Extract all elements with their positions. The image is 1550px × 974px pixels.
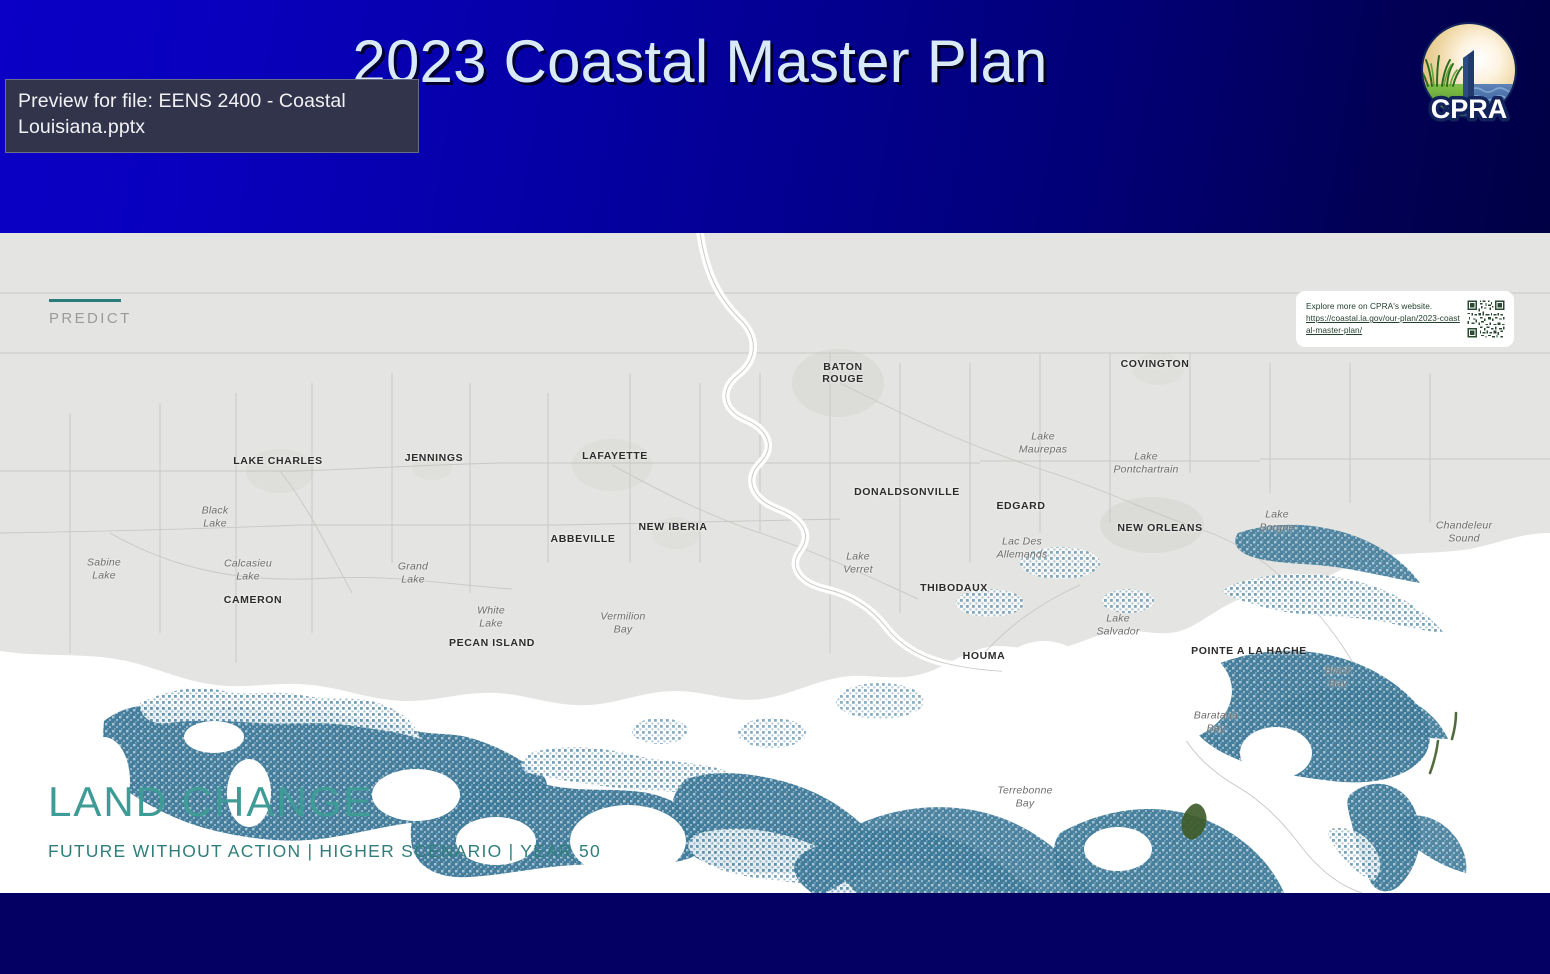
map-water-label: Sabine Lake: [87, 556, 121, 581]
map-water-label: Terrebonne Bay: [997, 784, 1052, 809]
slide-preview-window: 2023 Coastal Master Plan: [0, 0, 1550, 974]
map-water-label: Lake Pontchartrain: [1113, 450, 1178, 475]
explore-lead: Explore more on CPRA's website.: [1306, 301, 1432, 311]
caption-subtitle: FUTURE WITHOUT ACTION | HIGHER SCENARIO …: [48, 841, 601, 862]
map-city-label: LAFAYETTE: [582, 450, 648, 462]
map-water-label: Lake Borgne: [1259, 508, 1294, 533]
map-city-label: BATON ROUGE: [822, 361, 864, 385]
cpra-logo: CPRA CPRA: [1408, 12, 1530, 134]
map-city-label: NEW IBERIA: [639, 521, 708, 533]
map-city-label: PECAN ISLAND: [449, 637, 535, 649]
map-city-label: HOUMA: [963, 650, 1006, 662]
map-water-label: Barataria Bay: [1194, 709, 1238, 734]
map-water-label: Chandeleur Sound: [1436, 519, 1492, 544]
map-city-label: JENNINGS: [405, 452, 463, 464]
map-city-label: EDGARD: [996, 500, 1045, 512]
slide-caption: LAND CHANGE FUTURE WITHOUT ACTION | HIGH…: [48, 781, 601, 862]
map-city-label: POINTE A LA HACHE: [1191, 645, 1307, 657]
caption-title: LAND CHANGE: [48, 781, 601, 823]
map-water-label: White Lake: [477, 604, 505, 629]
map-water-label: Grand Lake: [398, 560, 428, 585]
map-water-label: Lake Salvador: [1096, 612, 1139, 637]
map-water-label: Lake Maurepas: [1019, 430, 1067, 455]
map-water-label: Black Bay: [1325, 664, 1352, 689]
bottom-bar: [0, 893, 1550, 974]
explore-more-box[interactable]: Explore more on CPRA's website. https://…: [1296, 291, 1514, 347]
predict-label: PREDICT: [49, 310, 132, 327]
map-water-label: Calcasieu Lake: [224, 557, 272, 582]
slide-map-image: LAKE CHARLESJENNINGSLAFAYETTENEW IBERIAA…: [0, 233, 1550, 893]
map-city-label: CAMERON: [224, 594, 282, 606]
cpra-website-link[interactable]: https://coastal.la.gov/our-plan/2023-coa…: [1306, 313, 1462, 337]
map-city-label: LAKE CHARLES: [233, 455, 322, 467]
map-city-label: DONALDSONVILLE: [854, 486, 960, 498]
map-water-label: Lake Verret: [843, 550, 872, 575]
map-city-label: COVINGTON: [1121, 358, 1190, 370]
map-water-label: Vermilion Bay: [600, 610, 645, 635]
map-water-label: Lac Des Allemands: [997, 535, 1048, 560]
map-water-label: Black Lake: [202, 504, 229, 529]
predict-rule: [49, 299, 121, 302]
explore-text: Explore more on CPRA's website. https://…: [1306, 301, 1462, 336]
cpra-wordmark: CPRA: [1431, 94, 1508, 124]
map-city-label: ABBEVILLE: [551, 533, 616, 545]
header-banner: 2023 Coastal Master Plan: [0, 0, 1550, 233]
qr-code-icon: [1466, 299, 1506, 339]
predict-eyebrow: PREDICT: [49, 299, 132, 327]
map-city-label: THIBODAUX: [920, 582, 988, 594]
file-preview-tooltip: Preview for file: EENS 2400 - Coastal Lo…: [5, 79, 419, 153]
map-city-label: NEW ORLEANS: [1117, 522, 1202, 534]
